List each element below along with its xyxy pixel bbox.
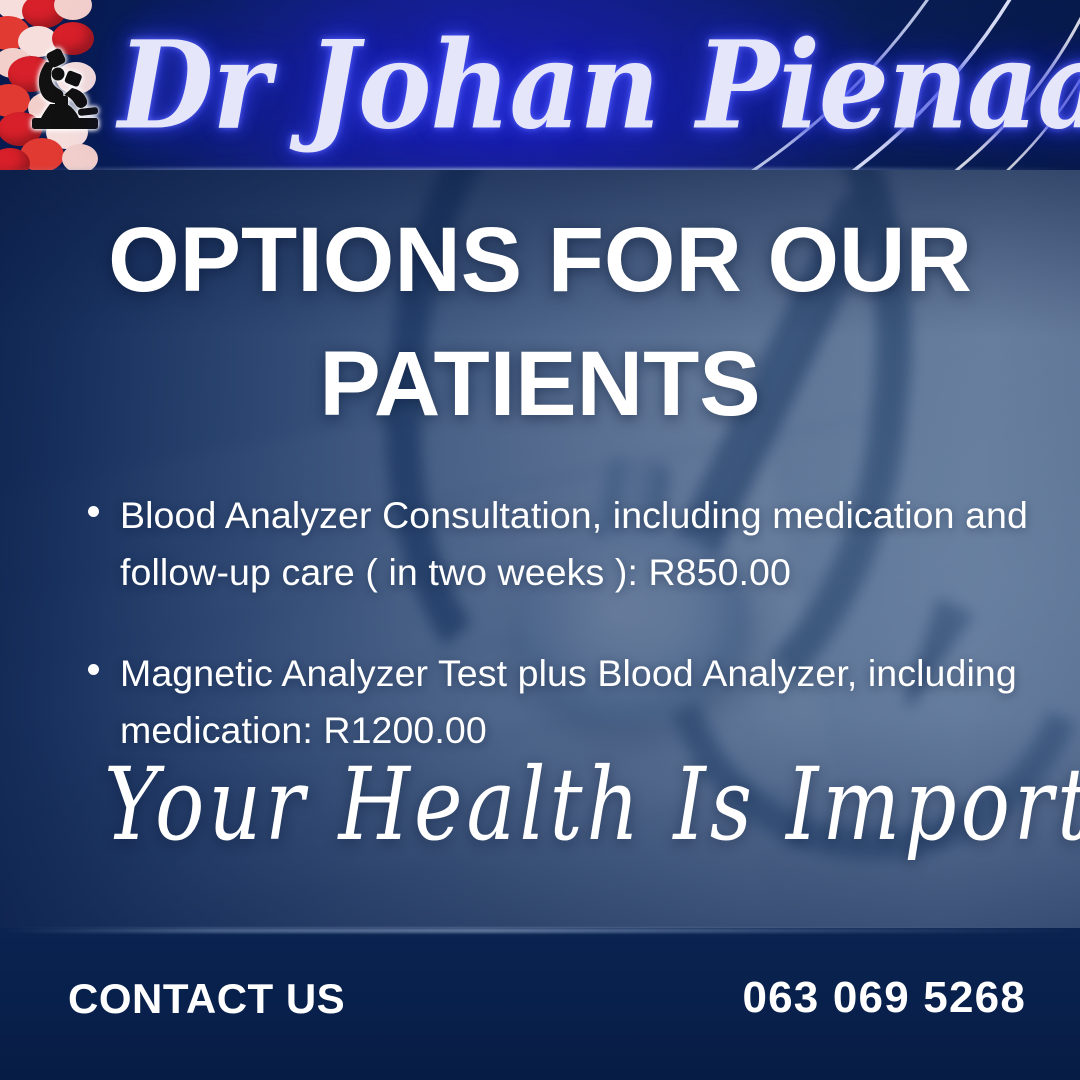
- list-item-text: Magnetic Analyzer Test plus Blood Analyz…: [120, 652, 1017, 751]
- contact-label: CONTACT US: [68, 975, 345, 1023]
- footer-divider: [0, 928, 1080, 933]
- bullet-dot-icon: [88, 664, 99, 675]
- footer-band: CONTACT US 063 069 5268: [0, 928, 1080, 1080]
- brand-name: Dr Johan Pienaar: [118, 0, 1080, 170]
- main-content-area: OPTIONS FOR OUR PATIENTS Blood Analyzer …: [0, 170, 1080, 928]
- list-item-text: Blood Analyzer Consultation, including m…: [120, 494, 1028, 593]
- contact-phone-number[interactable]: 063 069 5268: [742, 973, 1026, 1023]
- page-title: OPTIONS FOR OUR PATIENTS: [70, 198, 1010, 446]
- microscope-icon: [22, 38, 108, 134]
- content-layer: OPTIONS FOR OUR PATIENTS Blood Analyzer …: [0, 170, 1080, 928]
- promotional-poster: Dr Johan Pienaar: [0, 0, 1080, 1080]
- header-band: Dr Johan Pienaar: [0, 0, 1080, 170]
- tagline: Your Health Is Important: [104, 756, 1034, 856]
- bullet-dot-icon: [88, 506, 99, 517]
- list-item: Magnetic Analyzer Test plus Blood Analyz…: [74, 645, 1054, 759]
- list-item: Blood Analyzer Consultation, including m…: [74, 487, 1054, 601]
